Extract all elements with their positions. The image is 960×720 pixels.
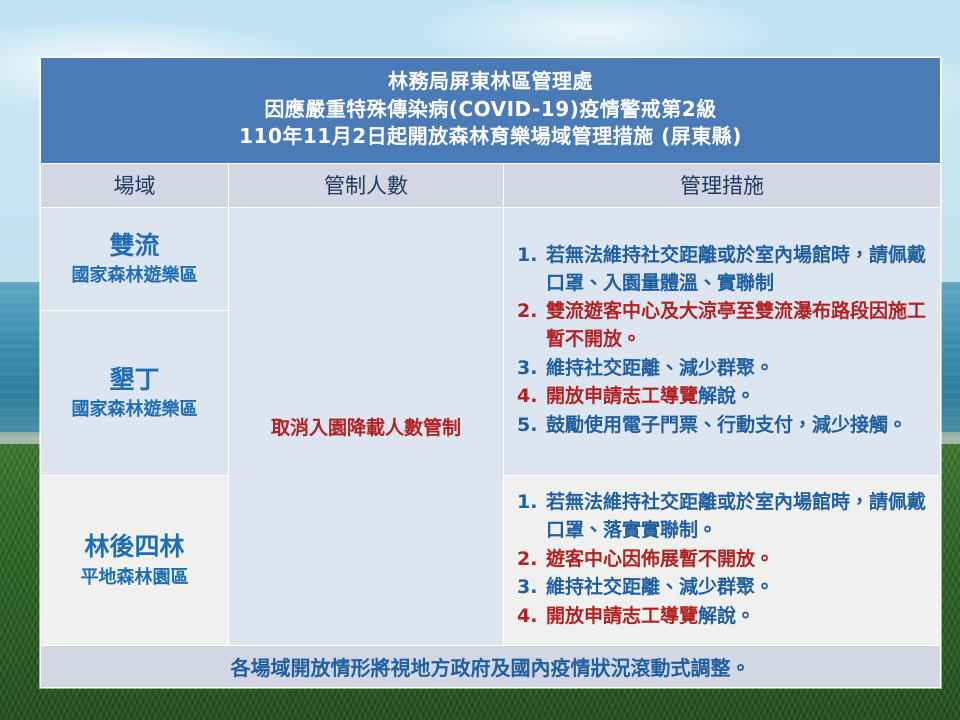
measure-item: 5.鼓勵使用電子門票、行動支付，減少接觸。 [512,412,928,440]
measure-text: 開放申請志工導覽解說。 [546,383,928,411]
table-title-row: 林務局屏東林區管理處 因應嚴重特殊傳染病(COVID-19)疫情警戒第2級 11… [41,58,941,164]
title-line-1: 林務局屏東林區管理處 [49,68,932,96]
measure-text: 若無法維持社交距離或於室內場館時，請佩戴口罩、入園量體溫、實聯制 [546,242,928,297]
table-row-shuangliu: 雙流 國家森林遊樂區 取消入園降載人數管制 1.若無法維持社交距離或於室內場館時… [41,207,941,310]
venue-cell-kenting: 墾丁 國家森林遊樂區 [41,310,229,475]
measure-number: 1. [512,489,546,517]
measure-text-run: 開放申請志工導覽 [546,605,698,627]
measure-text-run: 若無法維持社交距離或於室內場館時，請佩戴口罩、落實實聯制。 [546,491,926,541]
measure-text-run: 維持社交距離、減少群聚。 [546,576,774,598]
capacity-cell: 取消入園降載人數管制 [229,207,504,645]
measure-text: 雙流遊客中心及大涼亭至雙流瀑布路段因施工暫不開放。 [546,298,928,353]
measure-text-run: 解說。 [698,605,755,627]
measure-item: 3.維持社交距離、減少群聚。 [512,574,928,602]
measure-text-run: 遊客中心因佈展暫不開放。 [546,548,774,570]
measure-text: 遊客中心因佈展暫不開放。 [546,546,928,574]
venue-sub-shuangliu: 國家森林遊樂區 [47,264,222,287]
measure-item: 4.開放申請志工導覽解說。 [512,383,928,411]
measure-number: 4. [512,383,546,411]
measure-item: 4.開放申請志工導覽解說。 [512,603,928,631]
table-footer-row: 各場域開放情形將視地方政府及國內疫情狀況滾動式調整。 [41,645,941,687]
measure-number: 3. [512,574,546,602]
measure-text: 鼓勵使用電子門票、行動支付，減少接觸。 [546,412,928,440]
measure-text-run: 維持社交距離、減少群聚。 [546,357,774,379]
measures-cell-group-a: 1.若無法維持社交距離或於室內場館時，請佩戴口罩、入園量體溫、實聯制2.雙流遊客… [504,207,941,475]
measure-text: 維持社交距離、減少群聚。 [546,355,928,383]
title-line-3: 110年11月2日起開放森林育樂場域管理措施 (屏東縣) [49,123,932,151]
measure-item: 3.維持社交距離、減少群聚。 [512,355,928,383]
footer-note: 各場域開放情形將視地方政府及國內疫情狀況滾動式調整。 [41,645,941,687]
measures-cell-group-b: 1.若無法維持社交距離或於室內場館時，請佩戴口罩、落實實聯制。2.遊客中心因佈展… [504,475,941,645]
measure-text-run: 若無法維持社交距離或於室內場館時，請佩戴口罩、入園量體溫、實聯制 [546,244,926,294]
measure-number: 2. [512,298,546,326]
measure-number: 5. [512,412,546,440]
measure-item: 1.若無法維持社交距離或於室內場館時，請佩戴口罩、入園量體溫、實聯制 [512,242,928,297]
measure-text-run: 雙流遊客中心及大涼亭至雙流瀑布路段因施工暫不開放。 [546,300,926,350]
measure-item: 2.遊客中心因佈展暫不開放。 [512,546,928,574]
measure-item: 2.雙流遊客中心及大涼亭至雙流瀑布路段因施工暫不開放。 [512,298,928,353]
column-header-measures: 管理措施 [504,163,941,207]
venue-sub-kenting: 國家森林遊樂區 [47,398,222,421]
measures-list-group-b: 1.若無法維持社交距離或於室內場館時，請佩戴口罩、落實實聯制。2.遊客中心因佈展… [512,489,928,630]
measure-text-run: 鼓勵使用電子門票、行動支付，減少接觸。 [546,414,907,436]
table-header-row: 場域 管制人數 管理措施 [41,163,941,207]
measure-number: 2. [512,546,546,574]
table-title-cell: 林務局屏東林區管理處 因應嚴重特殊傳染病(COVID-19)疫情警戒第2級 11… [41,58,941,164]
measure-number: 1. [512,242,546,270]
venue-name-shuangliu: 雙流 [47,230,222,261]
venue-cell-shuangliu: 雙流 國家森林遊樂區 [41,207,229,310]
venue-sub-linhousilin: 平地森林園區 [47,566,222,589]
measure-text: 若無法維持社交距離或於室內場館時，請佩戴口罩、落實實聯制。 [546,489,928,544]
venue-cell-linhousilin: 林後四林 平地森林園區 [41,475,229,645]
measure-text-run: 解說。 [698,385,755,407]
measure-text: 維持社交距離、減少群聚。 [546,574,928,602]
venue-name-kenting: 墾丁 [47,364,222,395]
column-header-capacity: 管制人數 [229,163,504,207]
slide-canvas: 林務局屏東林區管理處 因應嚴重特殊傳染病(COVID-19)疫情警戒第2級 11… [0,0,960,720]
measure-item: 1.若無法維持社交距離或於室內場館時，請佩戴口罩、落實實聯制。 [512,489,928,544]
title-line-2: 因應嚴重特殊傳染病(COVID-19)疫情警戒第2級 [49,96,932,124]
venue-name-linhousilin: 林後四林 [47,531,222,562]
measure-number: 3. [512,355,546,383]
column-header-venue: 場域 [41,163,229,207]
measures-table: 林務局屏東林區管理處 因應嚴重特殊傳染病(COVID-19)疫情警戒第2級 11… [40,57,941,688]
measure-number: 4. [512,603,546,631]
measures-list-group-a: 1.若無法維持社交距離或於室內場館時，請佩戴口罩、入園量體溫、實聯制2.雙流遊客… [512,242,928,439]
measure-text: 開放申請志工導覽解說。 [546,603,928,631]
measure-text-run: 開放申請志工導覽 [546,385,698,407]
